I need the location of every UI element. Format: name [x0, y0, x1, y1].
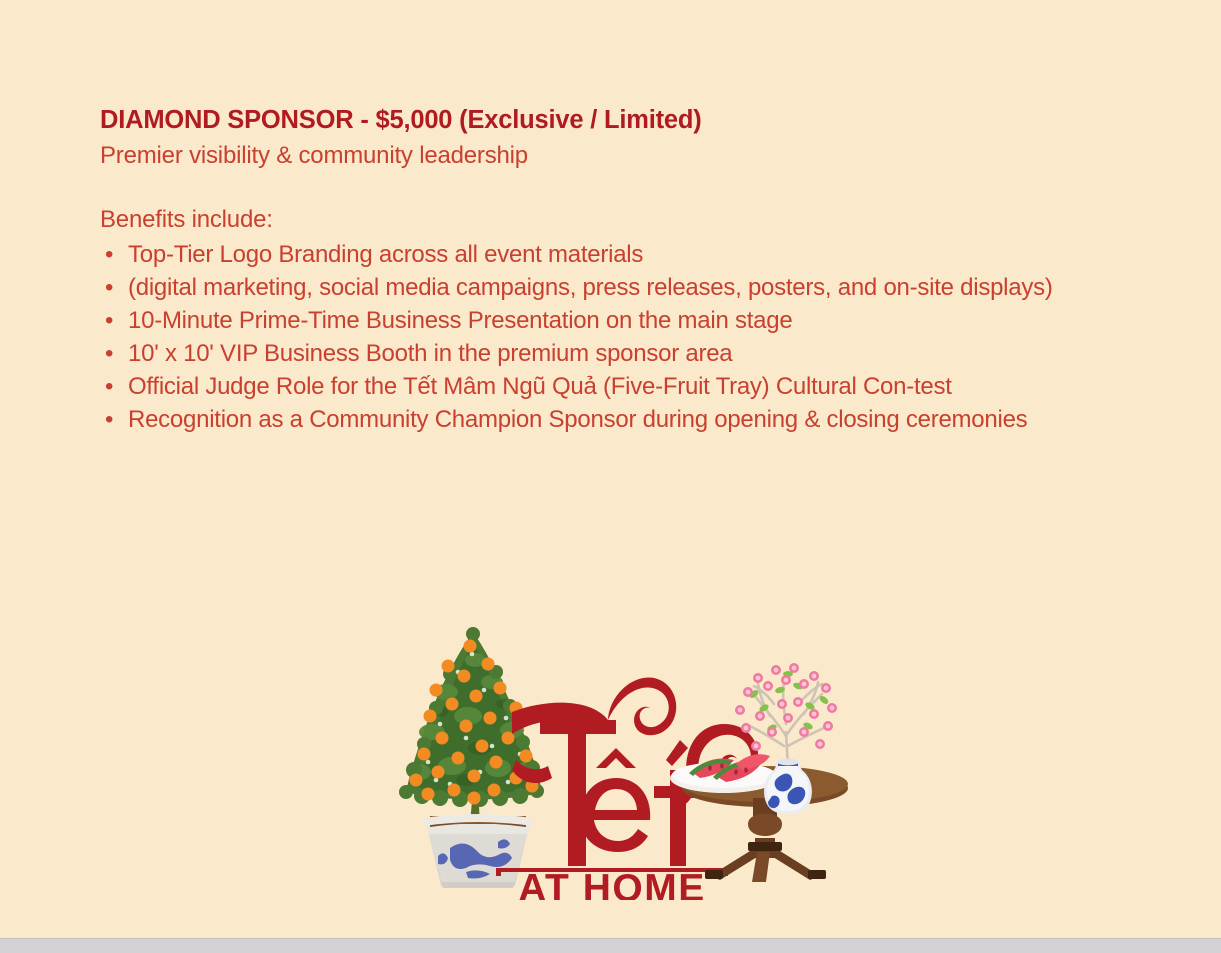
logo-tagline-text: AT HOME	[518, 867, 705, 900]
sponsor-tagline: Premier visibility & community leadershi…	[100, 140, 1130, 172]
bullet-icon: •	[105, 403, 113, 436]
list-item: • Official Judge Role for the Tết Mâm Ng…	[100, 370, 1130, 403]
list-item-label: Recognition as a Community Champion Spon…	[128, 406, 1027, 433]
porcelain-pot-icon	[424, 814, 532, 888]
list-item: • Top-Tier Logo Branding across all even…	[100, 238, 1130, 271]
bullet-icon: •	[105, 370, 113, 403]
sponsor-tier-title: DIAMOND SPONSOR - $5,000 (Exclusive / Li…	[100, 104, 1130, 137]
benefits-label: Benefits include:	[100, 204, 1130, 236]
list-item-label: 10-Minute Prime-Time Business Presentati…	[128, 307, 792, 334]
bullet-icon: •	[105, 304, 113, 337]
bullet-icon: •	[105, 238, 113, 271]
benefits-list: • Top-Tier Logo Branding across all even…	[100, 238, 1130, 436]
list-item: • (digital marketing, social media campa…	[100, 271, 1130, 304]
list-item-label: Official Judge Role for the Tết Mâm Ngũ …	[128, 373, 952, 400]
tet-at-home-logo: AT HOME	[380, 620, 850, 900]
bullet-icon: •	[105, 271, 113, 304]
logo-tagline: AT HOME	[496, 867, 728, 900]
list-item-label: Top-Tier Logo Branding across all event …	[128, 241, 643, 268]
list-item: • 10' x 10' VIP Business Booth in the pr…	[100, 337, 1130, 370]
page-sheet: DIAMOND SPONSOR - $5,000 (Exclusive / Li…	[0, 0, 1221, 938]
document-page: DIAMOND SPONSOR - $5,000 (Exclusive / Li…	[0, 0, 1221, 953]
page-bottom-edge	[0, 938, 1221, 953]
list-item-label: (digital marketing, social media campaig…	[128, 274, 1053, 301]
watermelon-plate-icon	[670, 754, 778, 793]
list-item-label: 10' x 10' VIP Business Booth in the prem…	[128, 340, 732, 367]
list-item: • Recognition as a Community Champion Sp…	[100, 403, 1130, 436]
bullet-icon: •	[105, 337, 113, 370]
sponsor-content-block: DIAMOND SPONSOR - $5,000 (Exclusive / Li…	[100, 104, 1130, 436]
list-item: • 10-Minute Prime-Time Business Presenta…	[100, 304, 1130, 337]
